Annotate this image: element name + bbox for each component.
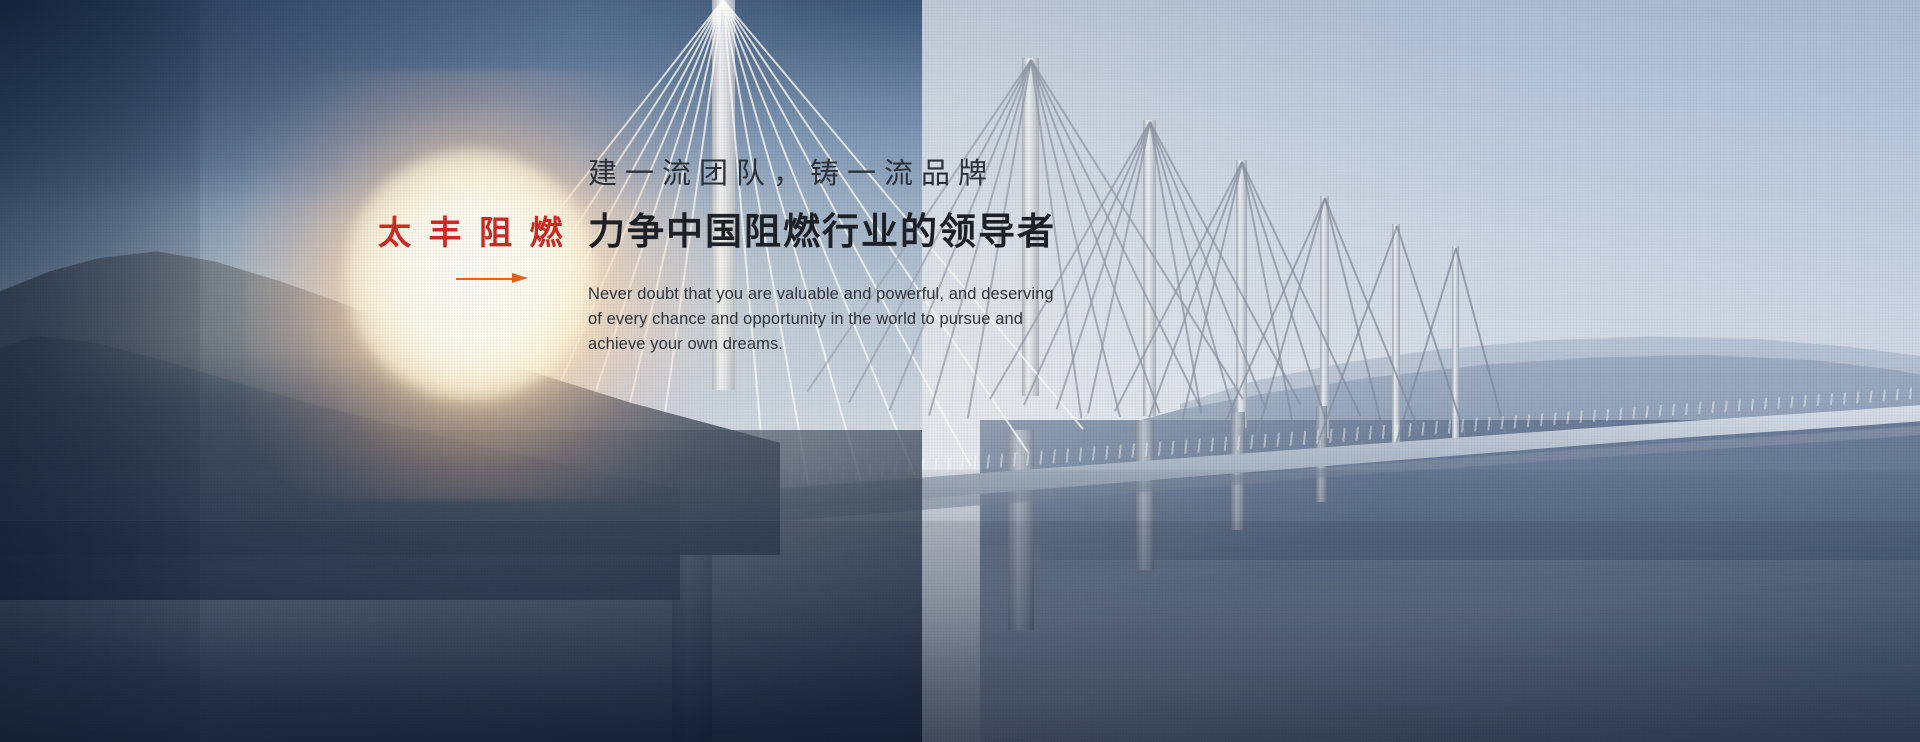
brand-logo[interactable]: 太 丰 阻 燃 bbox=[378, 216, 538, 283]
headline-title: 力争中国阻燃行业的领导者 bbox=[588, 209, 1228, 255]
description-line-2: of every chance and opportunity in the w… bbox=[588, 307, 1228, 332]
description-line-1: Never doubt that you are valuable and po… bbox=[588, 282, 1228, 307]
headline-block: 建一流团队，铸一流品牌 力争中国阻燃行业的领导者 Never doubt tha… bbox=[588, 155, 1228, 357]
arrow-head bbox=[512, 273, 528, 283]
arrow-right-icon bbox=[456, 273, 528, 283]
arrow-shaft bbox=[456, 278, 520, 280]
headline-subtitle: 建一流团队，铸一流品牌 bbox=[588, 155, 1228, 191]
banner-content: 太 丰 阻 燃 建一流团队，铸一流品牌 力争中国阻燃行业的领导者 Never d… bbox=[0, 0, 1920, 742]
hero-banner: 太 丰 阻 燃 建一流团队，铸一流品牌 力争中国阻燃行业的领导者 Never d… bbox=[0, 0, 1920, 742]
description-line-3: achieve your own dreams. bbox=[588, 332, 1228, 357]
brand-logo-text: 太 丰 阻 燃 bbox=[378, 216, 538, 249]
description-paragraph: Never doubt that you are valuable and po… bbox=[588, 282, 1228, 357]
